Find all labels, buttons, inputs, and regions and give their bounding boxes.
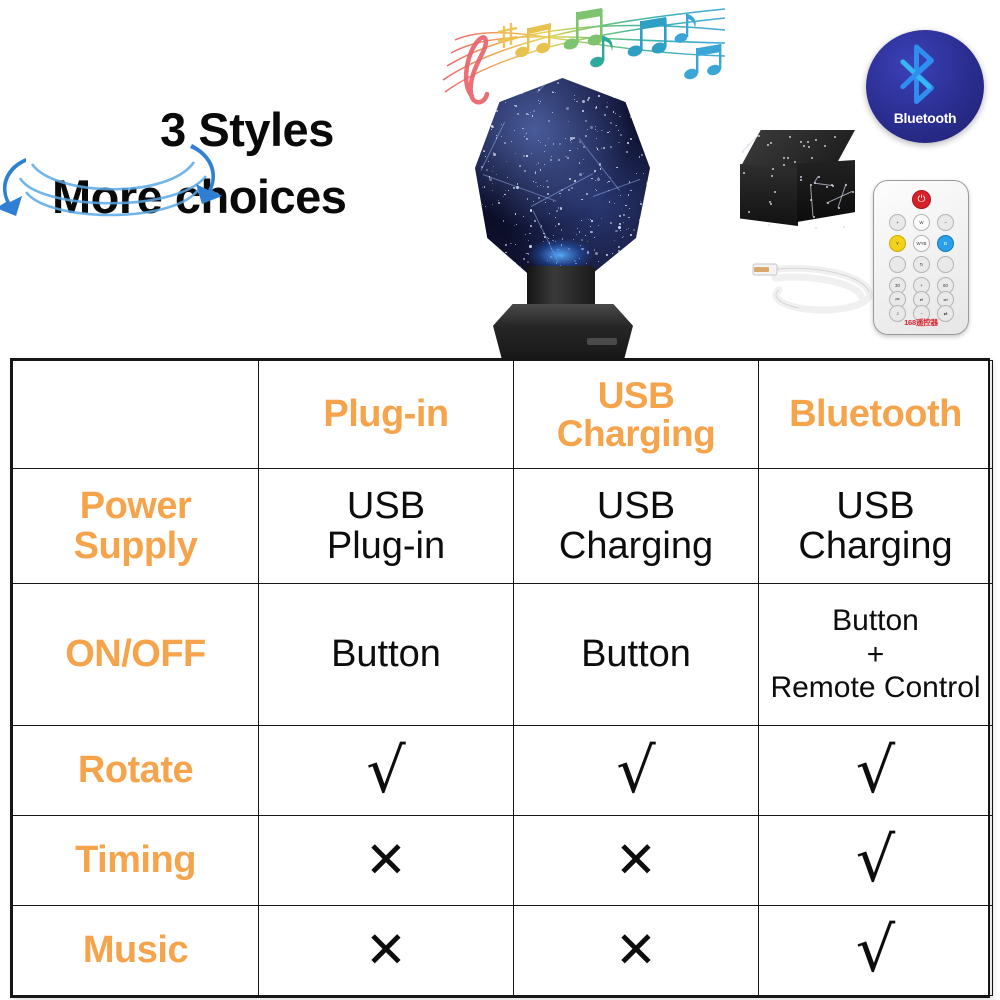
- cell-rotate-plugin: √: [259, 726, 514, 816]
- check-icon: √: [763, 740, 988, 802]
- check-icon: √: [763, 919, 988, 981]
- table-header-row: Plug-in USB Charging Bluetooth: [13, 361, 993, 469]
- cell-text: Charging: [518, 526, 754, 566]
- rotation-arrows-icon: [0, 118, 235, 238]
- header-cell-usb-charging: USB Charging: [514, 361, 759, 469]
- header-cell-plugin: Plug-in: [259, 361, 514, 469]
- remote-blue-button: B: [937, 235, 954, 252]
- cell-text: Button: [518, 634, 754, 674]
- row-label-power-supply: Power Supply: [13, 469, 259, 584]
- cell-power-supply-plugin: USB Plug-in: [259, 469, 514, 584]
- cell-on-off-plugin: Button: [259, 583, 514, 725]
- cell-power-supply-usb: USB Charging: [514, 469, 759, 584]
- header-label-plugin: Plug-in: [263, 395, 509, 434]
- cell-on-off-bluetooth: Button + Remote Control: [759, 583, 993, 725]
- row-label-timing-text: Timing: [17, 840, 254, 880]
- cell-text: USB: [518, 486, 754, 526]
- row-label-power-supply-l2: Supply: [17, 526, 254, 566]
- row-label-rotate-text: Rotate: [17, 750, 254, 790]
- header-cell-bluetooth: Bluetooth: [759, 361, 993, 469]
- header-label-bluetooth: Bluetooth: [763, 395, 988, 434]
- check-icon: √: [763, 829, 988, 891]
- cell-text: Charging: [763, 526, 988, 566]
- gift-box-icon: [740, 130, 855, 235]
- row-label-rotate: Rotate: [13, 726, 259, 816]
- table-row: Rotate √ √ √: [13, 726, 993, 816]
- remote-brightness-down-button: −: [937, 214, 954, 231]
- cell-rotate-bluetooth: √: [759, 726, 993, 816]
- cell-text: +: [763, 638, 988, 672]
- cell-text: USB: [763, 486, 988, 526]
- row-label-power-supply-l1: Power: [17, 486, 254, 526]
- star-projector-icon: [455, 78, 670, 358]
- header-label-usb-charging-l2: Charging: [518, 415, 754, 453]
- table-row: ON/OFF Button Button Button + Remote Con…: [13, 583, 993, 725]
- remote-flash-button: [937, 256, 954, 273]
- remote-white-button: W: [913, 214, 930, 231]
- cell-timing-bluetooth: √: [759, 816, 993, 906]
- product-hero-section: 3 Styles More choices: [0, 0, 1000, 358]
- usb-cable-icon: [745, 248, 880, 320]
- cross-icon: ✕: [518, 835, 754, 885]
- row-label-on-off-text: ON/OFF: [17, 634, 254, 674]
- table-row: Music ✕ ✕ √: [13, 905, 993, 995]
- cross-icon: ✕: [263, 925, 509, 975]
- cell-text: Plug-in: [263, 526, 509, 566]
- remote-control-icon: ⏻ + W − Y WYB B ↻ 30 + 60 ⏮ ⏯ ⏭ ♫ − ⇄ 16…: [873, 180, 969, 335]
- cell-rotate-usb: √: [514, 726, 759, 816]
- remote-model-label: 168遥控器: [874, 317, 968, 328]
- cross-icon: ✕: [263, 835, 509, 885]
- check-icon: √: [518, 740, 754, 802]
- bluetooth-badge: Bluetooth: [866, 30, 984, 143]
- cell-text: Remote Control: [763, 671, 988, 705]
- cross-icon: ✕: [518, 925, 754, 975]
- cell-timing-plugin: ✕: [259, 816, 514, 906]
- cell-music-bluetooth: √: [759, 905, 993, 995]
- check-icon: √: [263, 740, 509, 802]
- cell-text: Button: [763, 604, 988, 638]
- remote-wyb-button: WYB: [913, 235, 930, 252]
- bluetooth-icon: [888, 42, 950, 104]
- row-label-on-off: ON/OFF: [13, 583, 259, 725]
- table-row: Power Supply USB Plug-in USB Charging US…: [13, 469, 993, 584]
- comparison-table-wrapper: Plug-in USB Charging Bluetooth Power Sup…: [10, 358, 990, 998]
- cell-music-plugin: ✕: [259, 905, 514, 995]
- bluetooth-badge-label: Bluetooth: [866, 110, 984, 126]
- remote-power-button: ⏻: [912, 190, 931, 209]
- remote-rotate-button: ↻: [913, 256, 930, 273]
- row-label-music: Music: [13, 905, 259, 995]
- cell-text: Button: [263, 634, 509, 674]
- cell-music-usb: ✕: [514, 905, 759, 995]
- header-label-usb-charging-l1: USB: [518, 377, 754, 415]
- header-cell-empty: [13, 361, 259, 469]
- box-constellation-pattern: [740, 130, 855, 235]
- remote-dim-button: [889, 256, 906, 273]
- remote-yellow-button: Y: [889, 235, 906, 252]
- cell-on-off-usb: Button: [514, 583, 759, 725]
- comparison-table: Plug-in USB Charging Bluetooth Power Sup…: [12, 360, 993, 996]
- table-row: Timing ✕ ✕ √: [13, 816, 993, 906]
- cell-text: USB: [263, 486, 509, 526]
- row-label-timing: Timing: [13, 816, 259, 906]
- cell-power-supply-bluetooth: USB Charging: [759, 469, 993, 584]
- row-label-music-text: Music: [17, 930, 254, 970]
- remote-brightness-up-button: +: [889, 214, 906, 231]
- cell-timing-usb: ✕: [514, 816, 759, 906]
